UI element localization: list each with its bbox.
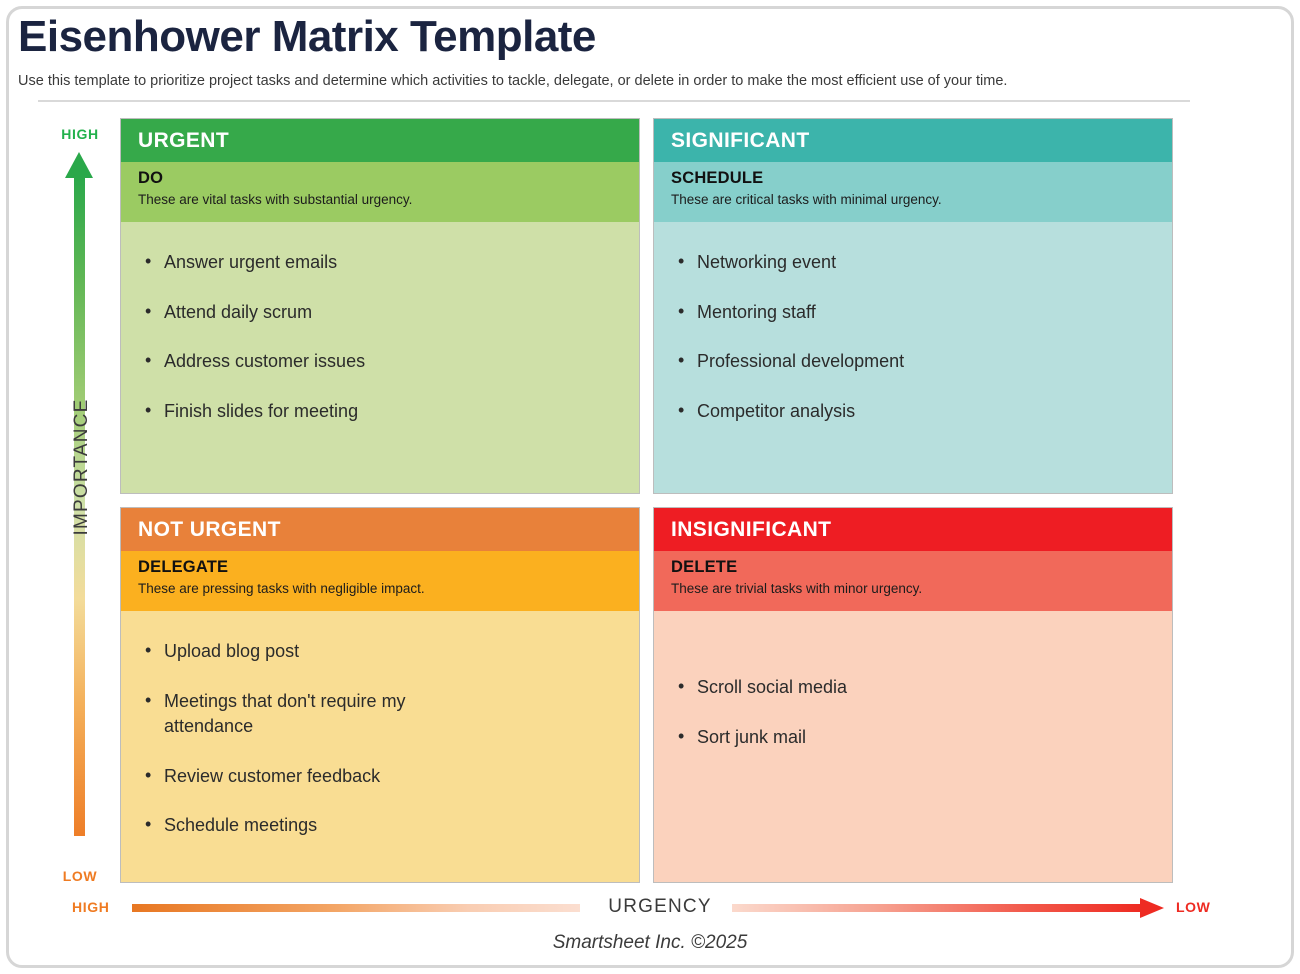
quadrant-title: URGENT <box>121 119 639 162</box>
quadrant-action: DELEGATE <box>138 557 639 578</box>
quadrant-description: These are vital tasks with substantial u… <box>138 191 639 209</box>
header-divider <box>38 100 1190 102</box>
page-subtitle: Use this template to prioritize project … <box>18 72 1218 91</box>
quadrant-band: DELEGATE These are pressing tasks with n… <box>121 551 639 611</box>
list-item[interactable]: Upload blog post <box>145 639 623 665</box>
urgency-low-label: LOW <box>1176 899 1210 915</box>
up-arrow-icon <box>65 152 93 178</box>
urgency-gradient-bar-right <box>732 904 1142 912</box>
quadrant-action: DO <box>138 168 639 189</box>
task-list: Scroll social media Sort junk mail <box>678 675 1156 750</box>
quadrant-band: DO These are vital tasks with substantia… <box>121 162 639 222</box>
quadrant-not-urgent-delegate[interactable]: NOT URGENT DELEGATE These are pressing t… <box>120 507 640 883</box>
quadrant-significant-schedule[interactable]: SIGNIFICANT SCHEDULE These are critical … <box>653 118 1173 494</box>
urgency-axis-label: URGENCY <box>590 896 730 918</box>
quadrant-body: Networking event Mentoring staff Profess… <box>654 222 1172 493</box>
quadrant-body: Answer urgent emails Attend daily scrum … <box>121 222 639 493</box>
matrix-grid: URGENT DO These are vital tasks with sub… <box>120 118 1173 883</box>
importance-high-label: HIGH <box>44 126 116 142</box>
quadrant-insignificant-delete[interactable]: INSIGNIFICANT DELETE These are trivial t… <box>653 507 1173 883</box>
quadrant-description: These are pressing tasks with negligible… <box>138 580 639 598</box>
list-item[interactable]: Meetings that don't require my attendanc… <box>145 689 445 740</box>
quadrant-band: SCHEDULE These are critical tasks with m… <box>654 162 1172 222</box>
task-list: Networking event Mentoring staff Profess… <box>678 250 1156 424</box>
urgency-gradient-bar-left <box>132 904 580 912</box>
list-item[interactable]: Networking event <box>678 250 1156 276</box>
task-list: Answer urgent emails Attend daily scrum … <box>145 250 623 424</box>
list-item[interactable]: Schedule meetings <box>145 813 623 839</box>
urgency-axis: HIGH URGENCY LOW <box>60 896 1240 924</box>
quadrant-body: Upload blog post Meetings that don't req… <box>121 611 639 882</box>
list-item[interactable]: Answer urgent emails <box>145 250 623 276</box>
quadrant-description: These are critical tasks with minimal ur… <box>671 191 1172 209</box>
importance-axis: HIGH LOW IMPORTANCE <box>44 126 116 884</box>
right-arrow-icon <box>1140 898 1164 918</box>
quadrant-action: SCHEDULE <box>671 168 1172 189</box>
list-item[interactable]: Review customer feedback <box>145 764 623 790</box>
quadrant-action: DELETE <box>671 557 1172 578</box>
page-header: Eisenhower Matrix Template Use this temp… <box>18 12 1218 90</box>
quadrant-urgent-do[interactable]: URGENT DO These are vital tasks with sub… <box>120 118 640 494</box>
list-item[interactable]: Address customer issues <box>145 349 623 375</box>
list-item[interactable]: Professional development <box>678 349 1156 375</box>
importance-axis-label: IMPORTANCE <box>71 367 93 567</box>
list-item[interactable]: Finish slides for meeting <box>145 399 623 425</box>
list-item[interactable]: Competitor analysis <box>678 399 1156 425</box>
task-list: Upload blog post Meetings that don't req… <box>145 639 623 839</box>
importance-low-label: LOW <box>44 868 116 884</box>
quadrant-title: NOT URGENT <box>121 508 639 551</box>
footer-copyright: Smartsheet Inc. ©2025 <box>0 932 1300 954</box>
list-item[interactable]: Sort junk mail <box>678 725 1156 751</box>
list-item[interactable]: Attend daily scrum <box>145 300 623 326</box>
urgency-high-label: HIGH <box>72 899 109 915</box>
list-item[interactable]: Scroll social media <box>678 675 1156 701</box>
list-item[interactable]: Mentoring staff <box>678 300 1156 326</box>
quadrant-title: SIGNIFICANT <box>654 119 1172 162</box>
quadrant-band: DELETE These are trivial tasks with mino… <box>654 551 1172 611</box>
quadrant-body: Scroll social media Sort junk mail <box>654 611 1172 882</box>
quadrant-title: INSIGNIFICANT <box>654 508 1172 551</box>
page-title: Eisenhower Matrix Template <box>18 12 1218 63</box>
eisenhower-matrix-page: Eisenhower Matrix Template Use this temp… <box>0 0 1300 974</box>
quadrant-description: These are trivial tasks with minor urgen… <box>671 580 1172 598</box>
